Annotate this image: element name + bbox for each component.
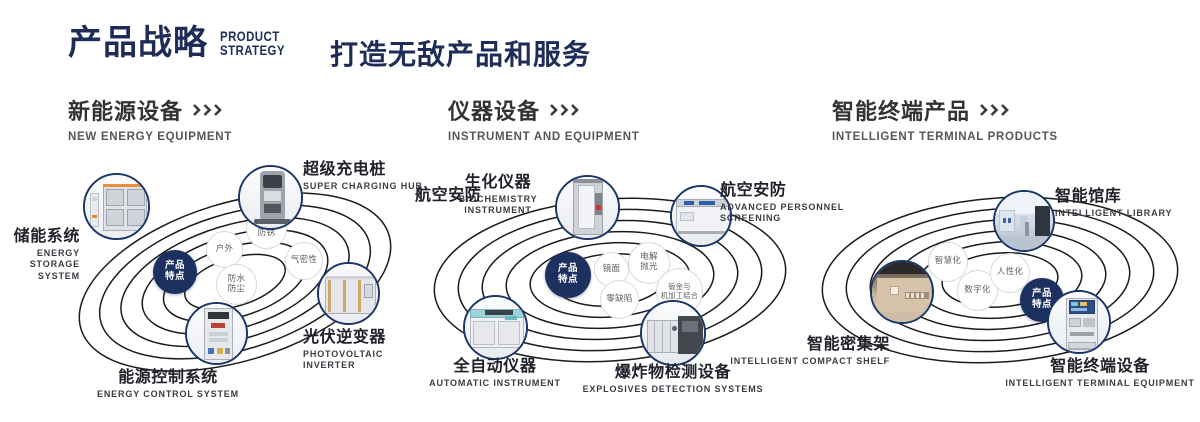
control-cabinet-photo <box>187 304 246 363</box>
node-energy-storage-system[interactable] <box>83 173 150 240</box>
label-energy-control-system: 能源控制系统 ENERGY CONTROL SYSTEM <box>88 363 248 400</box>
keyword-text: 智慧化 <box>935 257 961 267</box>
triple-chevron-right-icon <box>980 104 1014 116</box>
section-heading-instrument: 仪器设备 INSTRUMENT AND EQUIPMENT <box>448 94 639 143</box>
label-en: INTELLIGENT COMPACT SHELF <box>720 356 890 367</box>
node-automatic-instrument[interactable] <box>463 295 528 360</box>
inverter-cabinet-photo <box>319 264 378 323</box>
keyword-bubble-waterproof: 防水 防尘 <box>216 264 257 305</box>
compact-shelf-photo <box>872 262 932 322</box>
core-bubble-line2: 特点 <box>165 272 185 283</box>
page-title-en-line1: PRODUCT <box>220 29 285 43</box>
keyword-text: 户外 <box>216 245 234 255</box>
label-cn: 光伏逆变器 <box>303 323 433 347</box>
keyword-bubble-outdoor: 户外 <box>206 231 243 268</box>
section-heading-cn-wrap: 新能源设备 <box>68 94 232 126</box>
label-intelligent-compact-shelf: 智能密集架 INTELLIGENT COMPACT SHELF <box>720 330 890 367</box>
label-en: SUPER CHARGING HUB <box>303 181 423 192</box>
label-energy-storage-system: 储能系统 ENERGY STORAGE SYSTEM <box>0 222 80 282</box>
triple-chevron-right-icon <box>550 104 584 116</box>
explosive-detector-photo <box>642 302 704 364</box>
label-cn: 航空安防 <box>415 181 507 205</box>
label-aviation-security-left: 航空安防 <box>415 181 507 205</box>
self-service-kiosk-photo <box>1049 292 1109 352</box>
node-intelligent-terminal-equipment[interactable] <box>1047 290 1111 354</box>
keyword-bubble-airtightness: 气密性 <box>285 242 323 280</box>
label-cn: 智能馆库 <box>1055 182 1195 206</box>
node-photovoltaic-inverter[interactable] <box>317 262 380 325</box>
section-title-cn: 新能源设备 <box>68 94 183 126</box>
charging-pile-photo <box>240 167 301 228</box>
triple-chevron-right-icon <box>193 104 227 116</box>
core-bubble-line2: 特点 <box>558 275 578 286</box>
node-energy-control-system[interactable] <box>185 302 248 365</box>
section-title-cn: 智能终端产品 <box>832 94 970 126</box>
node-explosives-detection-systems[interactable] <box>640 300 706 366</box>
label-en: INTELLIGENT TERMINAL EQUIPMENT <box>1005 378 1195 389</box>
keyword-text-line2: 机加工结合 <box>661 292 698 300</box>
label-cn: 智能密集架 <box>720 330 890 354</box>
label-en: ENERGY STORAGE SYSTEM <box>0 248 80 282</box>
section-heading-intelligent-terminal: 智能终端产品 INTELLIGENT TERMINAL PRODUCTS <box>832 94 1058 143</box>
label-automatic-instrument: 全自动仪器 AUTOMATIC INSTRUMENT <box>410 352 580 389</box>
section-heading-cn-wrap: 仪器设备 <box>448 94 639 126</box>
node-super-charging-hub[interactable] <box>238 165 303 230</box>
core-bubble-product-features: 产品 特点 <box>545 252 591 298</box>
section-heading-cn-wrap: 智能终端产品 <box>832 94 1058 126</box>
battery-cabinet-photo <box>85 175 148 238</box>
keyword-text: 镜面 <box>603 265 621 275</box>
page-title: 产品战略 PRODUCT STRATEGY <box>68 26 299 60</box>
label-super-charging-hub: 超级充电桩 SUPER CHARGING HUB <box>303 155 423 192</box>
label-cn: 全自动仪器 <box>410 352 580 376</box>
keyword-text-line2: 防尘 <box>228 285 246 295</box>
section-heading-new-energy: 新能源设备 NEW ENERGY EQUIPMENT <box>68 94 232 143</box>
label-intelligent-terminal-equipment: 智能终端设备 INTELLIGENT TERMINAL EQUIPMENT <box>1005 352 1195 389</box>
section-title-cn: 仪器设备 <box>448 94 540 126</box>
page-subtitle: 打造无敌产品和服务 <box>330 33 591 73</box>
page-title-en-line2: STRATEGY <box>220 43 285 57</box>
label-en: AUTOMATIC INSTRUMENT <box>410 378 580 389</box>
section-title-en: INTELLIGENT TERMINAL PRODUCTS <box>832 131 1058 143</box>
keyword-text: 零缺陷 <box>606 295 632 305</box>
label-intelligent-library: 智能馆库 INTELLIGENT LIBRARY <box>1055 182 1195 219</box>
label-en: EXPLOSIVES DETECTION SYSTEMS <box>578 384 768 395</box>
section-title-en: NEW ENERGY EQUIPMENT <box>68 131 232 143</box>
node-biochemistry-instrument[interactable] <box>555 175 620 240</box>
label-en: INTELLIGENT LIBRARY <box>1055 208 1195 219</box>
node-intelligent-library[interactable] <box>993 190 1055 252</box>
product-strategy-infographic: 产品战略 PRODUCT STRATEGY 打造无敌产品和服务 新能源设备 NE… <box>0 0 1200 422</box>
label-en: ENERGY CONTROL SYSTEM <box>88 389 248 400</box>
security-gate-photo <box>557 177 618 238</box>
label-cn: 智能终端设备 <box>1005 352 1195 376</box>
label-cn: 能源控制系统 <box>88 363 248 387</box>
library-interior-photo <box>995 192 1053 250</box>
cluster-new-energy: 产品 特点 户外 防腐 防锈 防水 防尘 气密性 <box>55 160 415 400</box>
label-cn: 超级充电桩 <box>303 155 423 179</box>
node-intelligent-compact-shelf[interactable] <box>870 260 934 324</box>
label-cn: 储能系统 <box>0 222 80 246</box>
keyword-text: 人性化 <box>997 268 1023 278</box>
core-bubble-product-features: 产品 特点 <box>153 250 197 294</box>
keyword-bubble-zero-defect: 零缺陷 <box>600 280 639 319</box>
keyword-text: 数字化 <box>964 286 990 296</box>
keyword-text-line2: 抛光 <box>640 263 658 273</box>
section-title-en: INSTRUMENT AND EQUIPMENT <box>448 131 639 143</box>
page-title-en: PRODUCT STRATEGY <box>220 29 285 58</box>
keyword-text: 气密性 <box>291 256 317 266</box>
page-title-cn: 产品战略 <box>68 26 208 60</box>
automatic-analyzer-photo <box>465 297 526 358</box>
cluster-intelligent-terminal: 智慧化 数字化 人性化 产品 特点 <box>805 160 1195 400</box>
